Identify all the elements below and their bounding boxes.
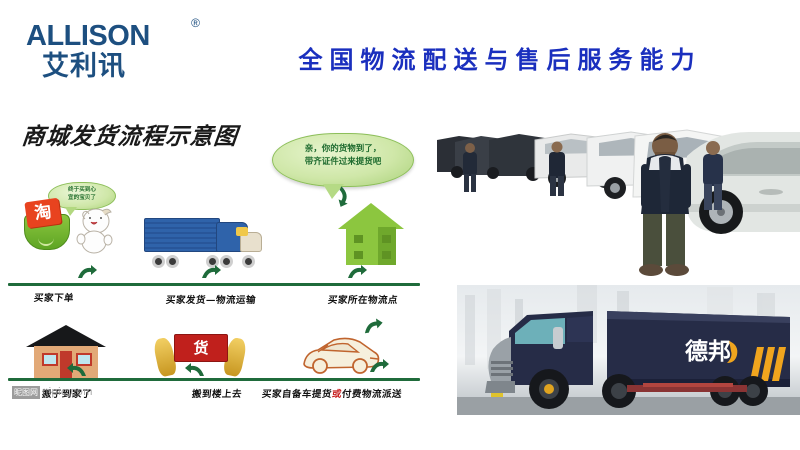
bubble-big-line1: 亲，你的货物到了， bbox=[305, 144, 382, 154]
watermark-badge: 昵图网 bbox=[12, 386, 40, 399]
goods-box-label: 货 bbox=[175, 335, 227, 361]
logistics-station-house-icon bbox=[338, 203, 404, 265]
flow-label-shipping-transport: 买家发货—物流运输 bbox=[165, 292, 256, 306]
registered-trademark-icon: ® bbox=[191, 16, 200, 30]
company-vehicle-fleet-photo bbox=[437, 118, 800, 281]
flow-arrow-icon bbox=[361, 317, 385, 336]
deppon-logistics-truck-photo: 德邦 bbox=[457, 285, 800, 415]
bubble-big-line2: 带齐证件过来提货吧 bbox=[305, 157, 382, 167]
diagram-title: 商城发货流程示意图 bbox=[20, 117, 240, 151]
slide-root: ALLISON ® 艾利讯 全国物流配送与售后服务能力 商城发货流程示意图 终于… bbox=[0, 0, 800, 450]
flow-arrow-icon bbox=[184, 362, 206, 378]
flow-label-move-upstairs: 搬到楼上去 bbox=[191, 386, 242, 400]
goods-box-icon: 货 bbox=[174, 334, 228, 362]
bubble-small-line1: 终于买到心 bbox=[68, 187, 96, 193]
watermark-text: nipic.com bbox=[42, 386, 93, 398]
flow-arrow-icon bbox=[368, 358, 390, 374]
delivery-truck-icon bbox=[144, 218, 260, 268]
flow-arrow-icon bbox=[200, 264, 222, 280]
flow-label-order-placed: 买家下单 bbox=[33, 290, 74, 304]
label-part-post: 付费物流派送 bbox=[341, 389, 402, 400]
bubble-small-line2: 宜的宝贝了 bbox=[68, 195, 96, 201]
company-logo: ALLISON ® 艾利讯 bbox=[26, 22, 206, 86]
label-part-pre: 买家自备车提货 bbox=[261, 389, 332, 400]
flow-divider-line-bottom bbox=[8, 378, 420, 381]
logistics-notice-bubble: 亲，你的货物到了， 带齐证件过来提货吧 bbox=[272, 133, 414, 187]
stock-site-watermark: 昵图网nipic.com bbox=[12, 386, 93, 399]
flow-label-self-pickup-or-paid-delivery: 买家自备车提货或付费物流派送 bbox=[261, 386, 403, 400]
flow-arrow-icon bbox=[346, 264, 368, 280]
flow-arrow-icon bbox=[76, 264, 98, 280]
truck-logo-text: 德邦 bbox=[685, 338, 731, 365]
page-title: 全国物流配送与售后服务能力 bbox=[240, 40, 760, 75]
flow-label-local-station: 买家所在物流点 bbox=[327, 292, 398, 306]
flow-divider-line-top bbox=[8, 283, 420, 286]
logo-chinese-name: 艾利讯 bbox=[26, 53, 206, 81]
taobao-logo-icon: 淘 bbox=[24, 198, 61, 228]
buyer-baby-illustration bbox=[72, 206, 116, 256]
flow-arrow-icon bbox=[66, 362, 88, 378]
logo-wordmark: ALLISON bbox=[26, 22, 206, 51]
